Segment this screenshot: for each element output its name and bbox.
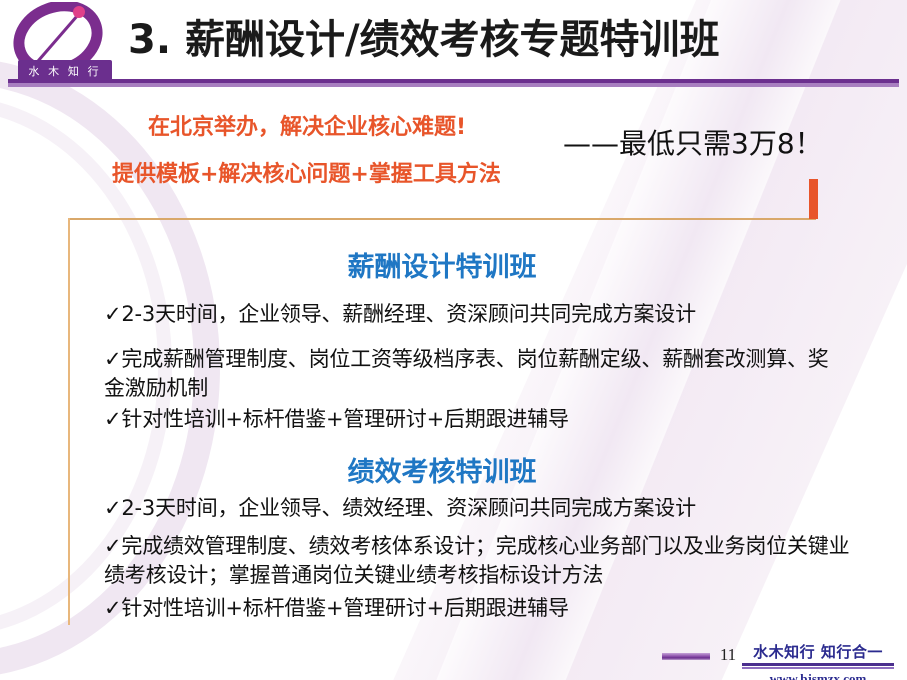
- list-item: ✓完成绩效管理制度、绩效考核体系设计；完成核心业务部门以及业务岗位关键业绩考核设…: [104, 532, 856, 590]
- header-divider-bottom: [8, 83, 899, 87]
- page-title: 3. 薪酬设计/绩效考核专题特训班: [128, 17, 818, 64]
- list-item: ✓2-3天时间，企业领导、薪酬经理、资深顾问共同完成方案设计: [104, 300, 844, 329]
- list-item: ✓针对性培训+标杆借鉴+管理研讨+后期跟进辅导: [104, 405, 844, 434]
- footer-gradient-bar: [662, 653, 710, 660]
- promo-headline-secondary: 提供模板+解决核心问题+掌握工具方法: [112, 156, 501, 188]
- orange-accent-bar: [809, 179, 818, 219]
- slide-canvas: 水 木 知 行 3. 薪酬设计/绩效考核专题特训班 在北京举办，解决企业核心难题…: [0, 0, 907, 680]
- list-item: ✓针对性培训+标杆借鉴+管理研讨+后期跟进辅导: [104, 594, 844, 623]
- shuimu-zhixing-logo: 水 木 知 行: [8, 2, 130, 84]
- list-item: ✓2-3天时间，企业领导、绩效经理、资深顾问共同完成方案设计: [104, 494, 844, 523]
- footer-brand-name: 水木知行 知行合一: [742, 641, 894, 662]
- slide-header: 水 木 知 行 3. 薪酬设计/绩效考核专题特训班: [0, 0, 907, 92]
- promo-price-note: ——最低只需3万8！: [563, 122, 823, 162]
- content-frame-top-border: [68, 218, 816, 220]
- section-heading-performance-review: 绩效考核特训班: [68, 450, 816, 489]
- promo-headline-primary: 在北京举办，解决企业核心难题!: [148, 109, 466, 141]
- footer-brand-divider-top: [742, 663, 894, 666]
- list-item: ✓完成薪酬管理制度、岗位工资等级档序表、岗位薪酬定级、薪酬套改测算、奖金激励机制: [104, 345, 844, 403]
- footer-brand-divider-bottom: [742, 667, 894, 669]
- footer-brand: 水木知行 知行合一 www.bjsmzx.com: [742, 641, 894, 680]
- footer-brand-url[interactable]: www.bjsmzx.com: [742, 671, 894, 680]
- page-number: 11: [710, 645, 746, 665]
- logo-dot-icon: [73, 6, 85, 18]
- logo-banner-text: 水 木 知 行: [18, 63, 112, 79]
- section-heading-salary-design: 薪酬设计特训班: [68, 245, 816, 284]
